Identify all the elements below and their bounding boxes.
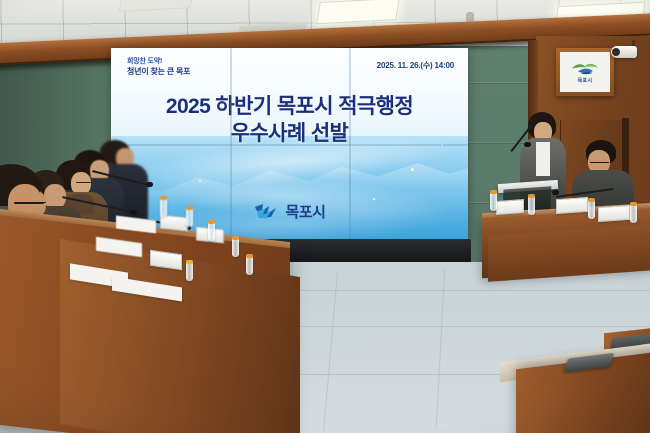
slide-sparkle [411,168,414,171]
bottle-cap [528,194,535,198]
microphone-head-icon [552,190,559,195]
floor-tile-line [323,272,338,431]
mokpo-bird-logo-icon [254,202,280,222]
bottle-cap [186,206,193,210]
bottle-cap [160,196,167,200]
bottle-cap [208,220,215,224]
bottle-cap [246,254,253,258]
slogan-line-1: 희망찬 도약! [127,58,190,67]
water-bottle [528,196,535,215]
bottle-cap [630,202,637,206]
water-bottle [208,222,215,241]
framed-city-emblem: 목포시 [556,48,614,96]
microphone-head-icon [146,182,153,187]
nameplate [556,197,588,214]
camera-lens-icon [612,48,620,56]
slide-slogan: 희망찬 도약! 청년이 찾는 큰 목포 [127,58,190,77]
slide-logo-text: 목포시 [286,201,326,222]
bottle-cap [588,198,595,202]
water-bottle [186,208,193,227]
slide-sparkle [199,180,201,182]
water-bottle [160,198,167,217]
floor-tile-line [436,268,445,428]
water-bottle [630,204,637,223]
nameplate [598,205,630,222]
water-bottle [186,262,193,281]
bottle-cap [232,236,239,240]
slide-title: 2025 하반기 목포시 적극행정 우수사례 선발 [111,94,468,148]
slide-sparkle [373,198,375,200]
city-emblem-icon [570,60,600,76]
conference-room-photo: 목포시 희망찬 도약! 청년이 찾는 큰 목포 2025. 11. 26.(수)… [0,0,650,433]
bottle-cap [490,190,497,194]
water-bottle [246,256,253,275]
microphone-head-icon [524,142,531,147]
panel-seam [111,144,468,146]
water-bottle [588,200,595,219]
nameplate [496,199,524,215]
slide-title-line-1: 2025 하반기 목포시 적극행정 [166,95,413,118]
slide-datetime: 2025. 11. 26.(수) 14:00 [377,60,454,71]
emblem-label: 목포시 [578,77,593,84]
nameplate [160,215,188,232]
bottle-cap [186,260,193,264]
slogan-line-2: 청년이 찾는 큰 목포 [127,67,190,77]
microphone-head-icon [130,210,137,215]
water-bottle [232,238,239,257]
water-bottle [490,192,497,211]
